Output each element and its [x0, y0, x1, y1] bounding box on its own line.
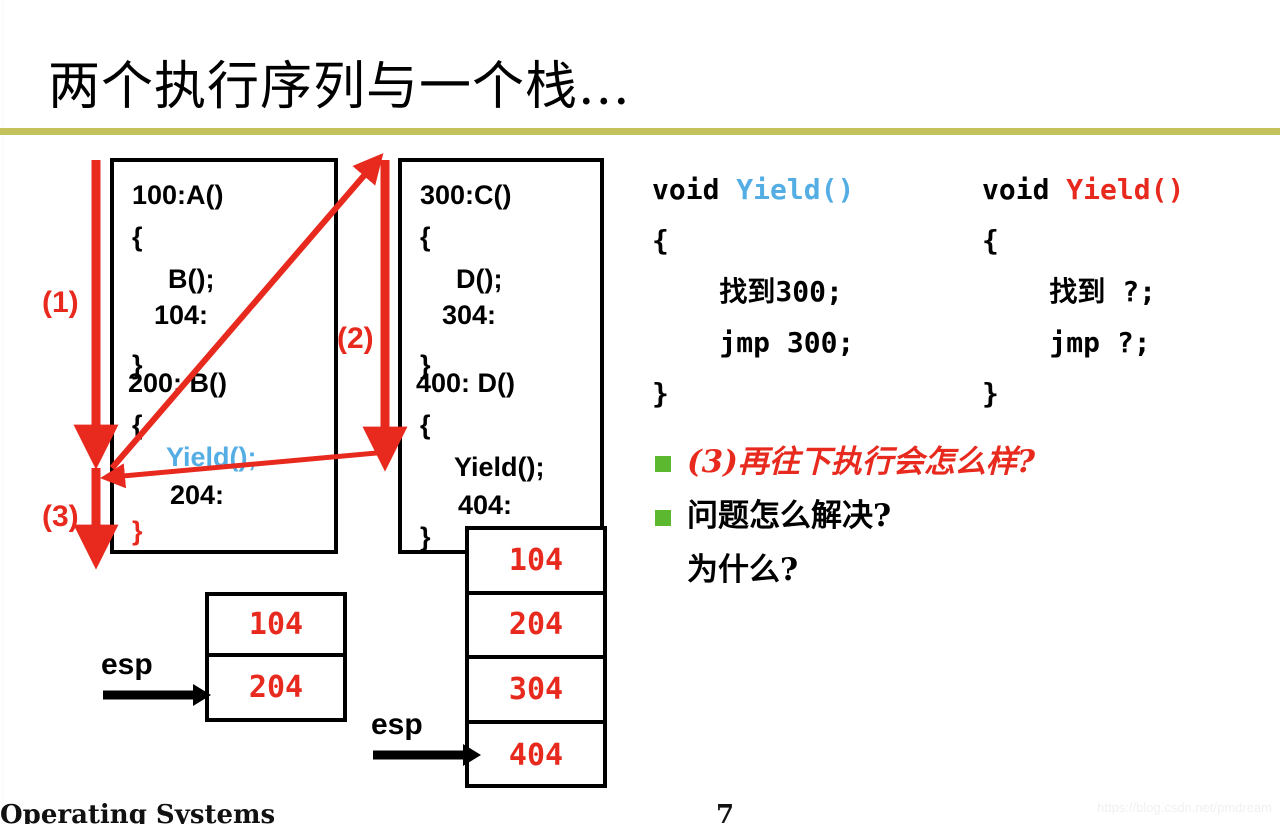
- stack-cell: 204: [469, 595, 603, 660]
- title-divider: [0, 128, 1280, 135]
- yield-keyword: void: [652, 173, 736, 206]
- yield-body-line: }: [652, 368, 854, 419]
- code-line: {: [420, 224, 431, 251]
- step-label-2: (2): [337, 322, 374, 356]
- yield-signature: void Yield(): [652, 164, 854, 215]
- thread-a-code-box: 100:A() { B(); 104: } 200: B() { Yield()…: [110, 158, 338, 554]
- yield-function-name: Yield(): [1066, 173, 1184, 206]
- list-item: 问题怎么解决?: [655, 496, 1255, 538]
- code-line: 204:: [170, 482, 224, 509]
- esp-label: esp: [371, 710, 481, 740]
- stack-cell: 104: [209, 596, 343, 657]
- code-line-yield-call: Yield();: [166, 444, 257, 471]
- yield-keyword: void: [982, 173, 1066, 206]
- code-line: }: [132, 518, 143, 545]
- question-bullet-list: (3)再往下执行会怎么样? 问题怎么解决? 为什么?: [655, 442, 1255, 604]
- code-line: 104:: [154, 302, 208, 329]
- list-item: (3)再往下执行会怎么样?: [655, 442, 1255, 484]
- yield-body-line: jmp ?;: [982, 317, 1184, 368]
- code-line: 304:: [442, 302, 496, 329]
- stack-cell: 304: [469, 659, 603, 724]
- esp-arrow-icon: [371, 740, 481, 770]
- code-line: {: [132, 224, 143, 251]
- stack-cell: 104: [469, 530, 603, 595]
- code-line: {: [132, 412, 143, 439]
- yield-signature: void Yield(): [982, 164, 1184, 215]
- stack-thread-b: 104 204 304 404: [465, 526, 607, 788]
- code-line-yield-call: Yield();: [454, 454, 545, 481]
- esp-pointer-b: esp: [371, 710, 481, 775]
- yield-body-line: {: [982, 215, 1184, 266]
- code-line: 100:A(): [132, 182, 224, 209]
- bullet-square-icon: [655, 456, 671, 472]
- esp-pointer-a: esp: [101, 650, 211, 715]
- yield-body-line: jmp 300;: [652, 317, 854, 368]
- watermark-text: https://blog.csdn.net/pmdream: [1097, 800, 1272, 815]
- step-label-1: (1): [42, 286, 79, 320]
- yield-body-line: 找到 ?;: [982, 266, 1184, 317]
- yield-body-line: {: [652, 215, 854, 266]
- left-edge-rule: [2, 0, 4, 824]
- bullet-label: (3)再往下执行会怎么样?: [687, 442, 1035, 484]
- code-line: 404:: [458, 492, 512, 519]
- code-line: 400: D(): [416, 370, 515, 397]
- stack-cell: 204: [209, 657, 343, 718]
- esp-arrow-icon: [101, 680, 211, 710]
- code-line: 200: B(): [128, 370, 227, 397]
- page-title: 两个执行序列与一个栈...: [48, 44, 631, 119]
- yield-listing-unknown: void Yield() { 找到 ?; jmp ?; }: [982, 164, 1184, 419]
- code-line: }: [420, 524, 431, 551]
- yield-body-line: }: [982, 368, 1184, 419]
- stack-thread-a: 104 204: [205, 592, 347, 722]
- yield-listing-correct: void Yield() { 找到300; jmp 300; }: [652, 164, 854, 419]
- code-line: 300:C(): [420, 182, 512, 209]
- yield-body-line: 找到300;: [652, 266, 854, 317]
- slide-canvas: 两个执行序列与一个栈... 100:A() { B(); 104: } 200:…: [0, 0, 1280, 824]
- code-line: {: [420, 412, 431, 439]
- code-line: B();: [168, 266, 214, 293]
- esp-label: esp: [101, 650, 211, 680]
- code-line: D();: [456, 266, 502, 293]
- bullet-label: 问题怎么解决?: [687, 496, 891, 538]
- thread-b-code-box: 300:C() { D(); 304: } 400: D() { Yield()…: [398, 158, 604, 554]
- yield-function-name: Yield(): [736, 173, 854, 206]
- footer-page-number: 7: [716, 800, 734, 824]
- step-label-3: (3): [42, 500, 79, 534]
- footer-course-name: Operating Systems: [0, 800, 275, 824]
- bullet-label: 为什么?: [687, 550, 798, 592]
- list-item: 为什么?: [655, 550, 1255, 592]
- stack-cell: 404: [469, 724, 603, 789]
- bullet-square-icon: [655, 510, 671, 526]
